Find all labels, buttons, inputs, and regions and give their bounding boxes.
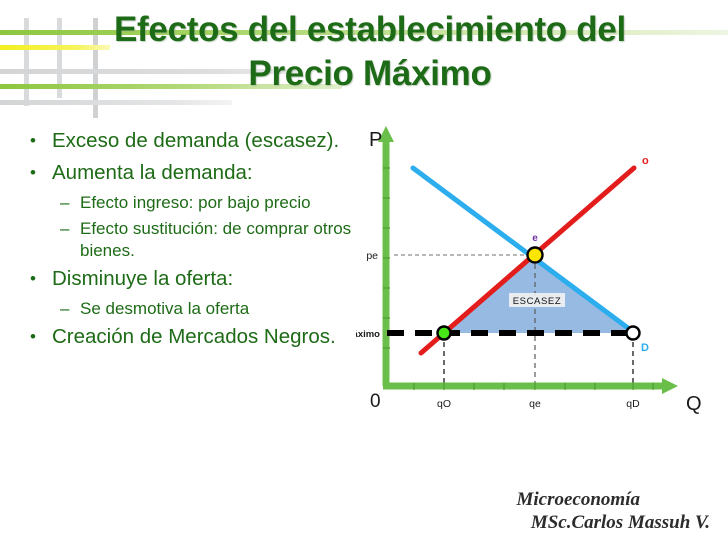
y-tick-label-pe: pe	[366, 250, 378, 262]
supply-curve-label: o	[642, 155, 649, 167]
sub-list-item: – Efecto sustitución: de comprar otros b…	[30, 218, 360, 262]
y-axis-title: P	[369, 129, 382, 151]
bullet-text: Exceso de demanda (escasez).	[52, 128, 360, 153]
bullet-text: Se desmotiva la oferta	[80, 298, 360, 320]
list-item: • Exceso de demanda (escasez).	[30, 128, 360, 153]
list-item: • Creación de Mercados Negros.	[30, 324, 360, 349]
bullet-text: Disminuye la oferta:	[52, 266, 360, 291]
equilibrium-point	[528, 248, 543, 263]
supply-demand-chart: ESCASEZ o D e P Q 0 pe P máximo qO qe qD	[356, 122, 728, 418]
page-title: Efectos del establecimiento del Precio M…	[40, 8, 700, 96]
escasez-label: ESCASEZ	[513, 296, 562, 307]
sub-list-item: – Se desmotiva la oferta	[30, 298, 360, 320]
x-tick-label-qe: qe	[529, 398, 541, 410]
bullet-marker: –	[60, 192, 80, 214]
equilibrium-label: e	[532, 233, 538, 244]
x-axis-arrow	[662, 378, 678, 394]
bullet-list: • Exceso de demanda (escasez). • Aumenta…	[30, 128, 360, 356]
bullet-marker: –	[60, 298, 80, 320]
footer-author: MSc.Carlos Massuh V.	[531, 512, 710, 534]
x-axis-title: Q	[686, 393, 702, 415]
origin-label: 0	[370, 391, 381, 412]
bullet-marker: •	[30, 266, 52, 291]
qo-point	[438, 327, 451, 340]
page-title-line-2: Precio Máximo	[40, 52, 700, 96]
x-tick-label-qo: qO	[437, 398, 451, 410]
slide-canvas: Efectos del establecimiento del Precio M…	[0, 0, 728, 546]
bullet-marker: –	[60, 218, 80, 262]
sub-list-item: – Efecto ingreso: por bajo precio	[30, 192, 360, 214]
bullet-text: Efecto sustitución: de comprar otros bie…	[80, 218, 360, 262]
slide-footer: Microeconomía MSc.Carlos Massuh V.	[0, 450, 728, 546]
page-title-line-1: Efectos del establecimiento del	[40, 8, 700, 52]
bullet-marker: •	[30, 160, 52, 185]
bullet-marker: •	[30, 128, 52, 153]
list-item: • Disminuye la oferta:	[30, 266, 360, 291]
bullet-text: Aumenta la demanda:	[52, 160, 360, 185]
list-item: • Aumenta la demanda:	[30, 160, 360, 185]
qd-point	[627, 327, 640, 340]
demand-curve-label: D	[641, 342, 649, 354]
x-tick-label-qd: qD	[626, 398, 640, 410]
bullet-text: Creación de Mercados Negros.	[52, 324, 360, 349]
decor-hline-gray-2	[0, 100, 232, 105]
footer-subject: Microeconomía	[517, 489, 641, 511]
bullet-text: Efecto ingreso: por bajo precio	[80, 192, 360, 214]
bullet-marker: •	[30, 324, 52, 349]
